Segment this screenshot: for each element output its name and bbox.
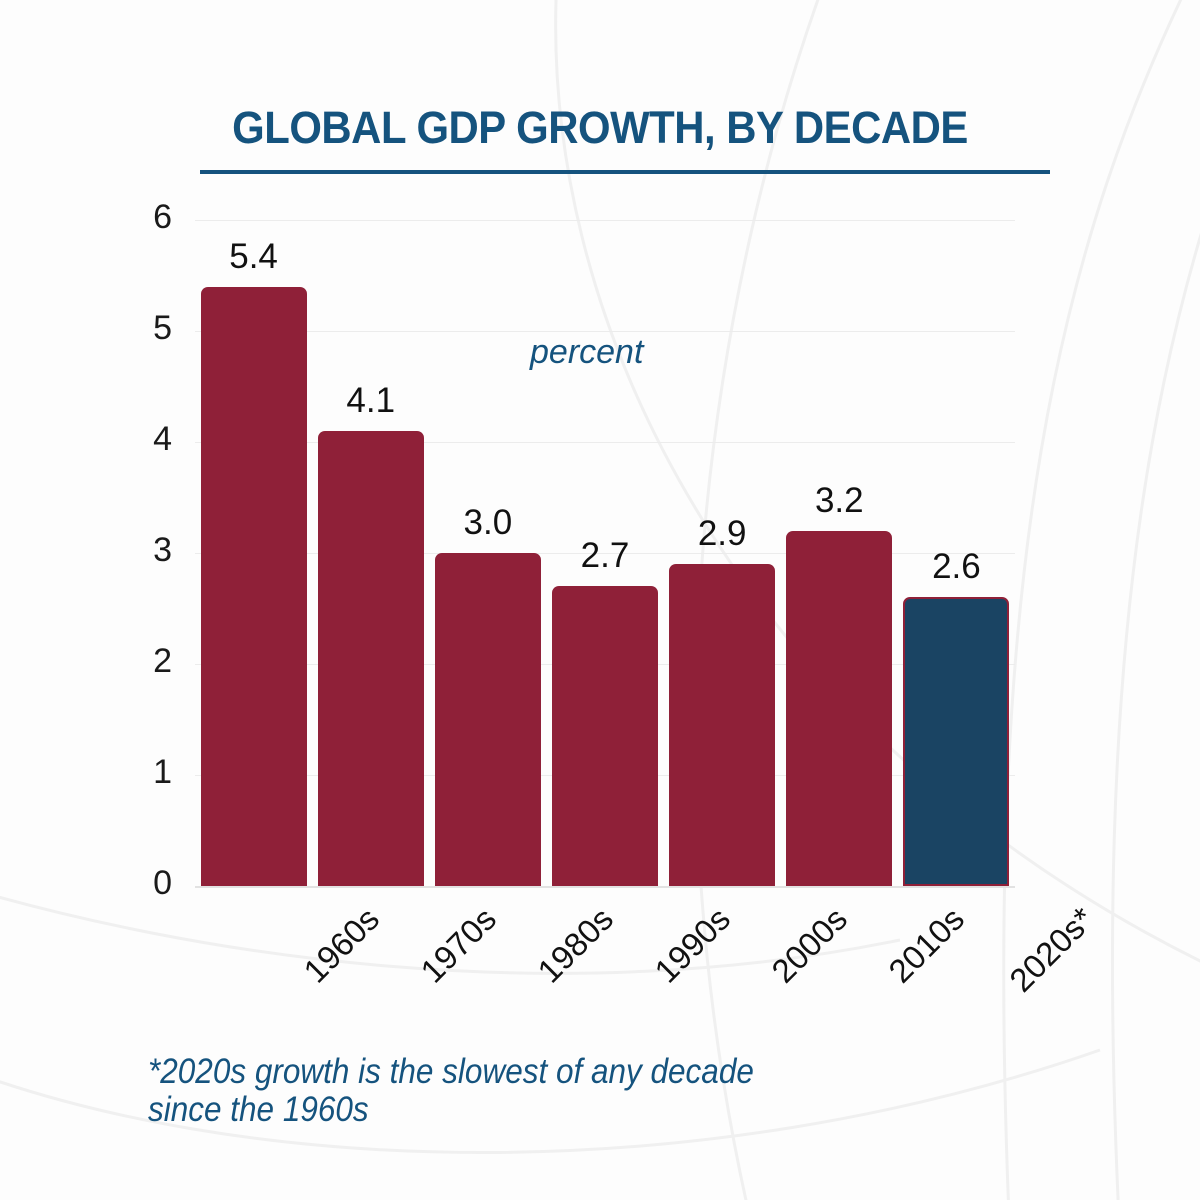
bar-value-label-1990s: 2.7 bbox=[552, 536, 658, 576]
gridline-5 bbox=[195, 331, 1015, 332]
title-underline-rule bbox=[200, 170, 1050, 174]
bar-1990s[interactable] bbox=[552, 586, 658, 886]
bar-1980s[interactable] bbox=[435, 553, 541, 886]
y-axis-tick-6: 6 bbox=[110, 198, 172, 237]
bar-value-label-1960s: 5.4 bbox=[201, 237, 307, 277]
bar-1970s[interactable] bbox=[318, 431, 424, 886]
x-axis-baseline bbox=[195, 886, 1015, 888]
footnote-line-1: *2020s growth is the slowest of any deca… bbox=[148, 1053, 958, 1091]
x-axis-label-2010s: 2010s bbox=[882, 900, 972, 990]
bar-1960s[interactable] bbox=[201, 287, 307, 886]
page-title: GLOBAL GDP GROWTH, BY DECADE bbox=[42, 104, 1158, 151]
x-axis-label-1970s: 1970s bbox=[413, 900, 503, 990]
y-axis-tick-0: 0 bbox=[110, 864, 172, 903]
gridline-6 bbox=[195, 220, 1015, 221]
bar-value-label-1970s: 4.1 bbox=[318, 381, 424, 421]
x-axis-label-1980s: 1980s bbox=[530, 900, 620, 990]
y-axis-tick-4: 4 bbox=[110, 420, 172, 459]
x-axis-label-2000s: 2000s bbox=[764, 900, 854, 990]
y-axis-tick-1: 1 bbox=[110, 753, 172, 792]
footnote: *2020s growth is the slowest of any deca… bbox=[148, 1053, 958, 1129]
chart-canvas: GLOBAL GDP GROWTH, BY DECADE 6 5 4 3 2 1… bbox=[0, 0, 1200, 1200]
x-axis-label-1990s: 1990s bbox=[647, 900, 737, 990]
bar-value-label-2020s: 2.6 bbox=[903, 547, 1009, 587]
bar-value-label-2010s: 3.2 bbox=[786, 481, 892, 521]
bar-2010s[interactable] bbox=[786, 531, 892, 886]
title-block: GLOBAL GDP GROWTH, BY DECADE bbox=[0, 104, 1200, 151]
bar-2020s[interactable] bbox=[903, 597, 1009, 886]
bar-2000s[interactable] bbox=[669, 564, 775, 886]
y-axis-tick-2: 2 bbox=[110, 642, 172, 681]
x-axis-label-2020s: 2020s* bbox=[1003, 900, 1103, 1000]
y-axis-tick-3: 3 bbox=[110, 531, 172, 570]
x-axis-label-1960s: 1960s bbox=[296, 900, 386, 990]
bar-value-label-1980s: 3.0 bbox=[435, 503, 541, 543]
unit-annotation-percent: percent bbox=[530, 333, 643, 372]
y-axis-tick-5: 5 bbox=[110, 309, 172, 348]
plot-area: 5.44.13.02.72.93.22.6 bbox=[195, 220, 1015, 886]
bar-value-label-2000s: 2.9 bbox=[669, 514, 775, 554]
footnote-line-2: since the 1960s bbox=[148, 1091, 958, 1129]
